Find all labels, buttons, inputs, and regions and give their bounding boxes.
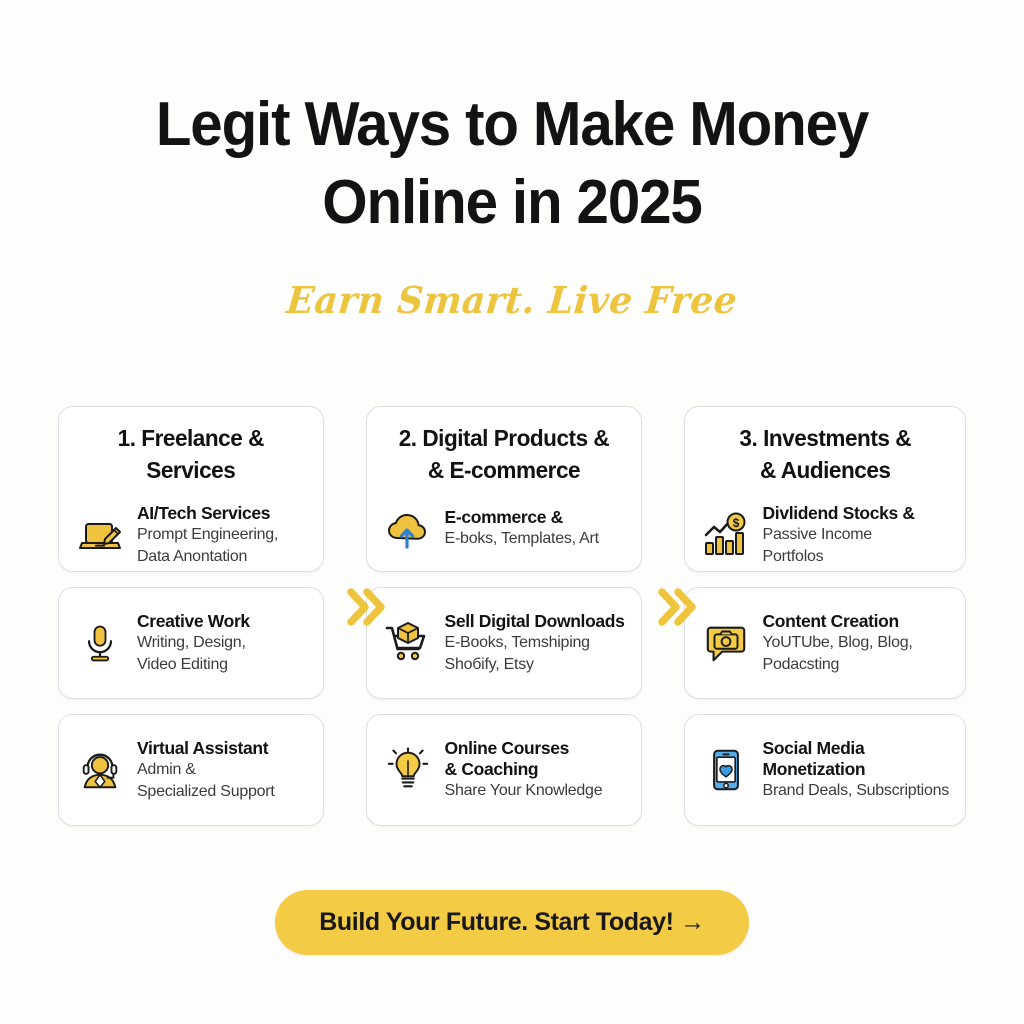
item-title: Sell Digital Downloads <box>445 611 625 632</box>
infographic-page: Legit Ways to Make Money Online in 2025 … <box>0 0 1024 1024</box>
card-online-courses[interactable]: Online Courses & Coaching Share Your Kno… <box>366 714 642 826</box>
column-digital-products: 2. Digital Products & & E-commerce <box>366 406 642 826</box>
item-sub-line-2: Video Editing <box>137 655 250 676</box>
card-texts: Sell Digital Downloads E-Books, Temshipi… <box>445 611 625 676</box>
card-sell-digital-downloads[interactable]: Sell Digital Downloads E-Books, Temshipi… <box>366 587 642 699</box>
column-heading: 3. Investments & & Audiences <box>705 423 944 487</box>
card-content-creation[interactable]: Content Creation YoUTUbe, Blog, Blog, Po… <box>684 587 966 699</box>
item-sub-line-2: Portfolos <box>763 547 915 568</box>
item-sub-line-1: Share Your Knowledge <box>445 781 603 802</box>
item-sub-line-2: Specialized Support <box>137 782 275 803</box>
growth-chart-coin-icon: $ <box>701 510 751 560</box>
item-title-line-2: Monetization <box>763 759 949 780</box>
card-row: Sell Digital Downloads E-Books, Temshipi… <box>383 611 625 676</box>
item-title: Creative Work <box>137 611 250 632</box>
column-heading-line-2: & Audiences <box>705 455 944 487</box>
column-heading-line-1: 3. Investments & <box>705 423 944 455</box>
column-heading: 1. Freelance & Services <box>80 423 302 487</box>
shopping-cart-box-icon <box>383 618 433 668</box>
item-title: AI/Tech Services <box>137 503 278 524</box>
item-sub-line-1: Brand Deals, Subscriptions <box>763 781 949 802</box>
item-title: Online Courses <box>445 738 603 759</box>
card-texts: Divlidend Stocks & Passive Income Portfo… <box>763 503 915 568</box>
page-title-line-1: Legit Ways to Make Money <box>117 86 907 164</box>
card-creative-work[interactable]: Creative Work Writing, Design, Video Edi… <box>58 587 324 699</box>
card-row: Virtual Assistant Admin & Specialized Su… <box>75 738 275 803</box>
page-subtitle: Earn Smart. Live Free <box>13 278 1010 322</box>
card-texts: Content Creation YoUTUbe, Blog, Blog, Po… <box>763 611 913 676</box>
card-texts: Online Courses & Coaching Share Your Kno… <box>445 738 603 802</box>
columns-container: 1. Freelance & Services <box>58 406 966 826</box>
cards-grid: 1. Freelance & Services <box>58 406 966 826</box>
card-row: AI/Tech Services Prompt Engineering, Dat… <box>75 503 307 568</box>
card-row: Social Media Monetization Brand Deals, S… <box>701 738 949 802</box>
card-investments-header[interactable]: 3. Investments & & Audiences <box>684 406 966 572</box>
item-sub-line-2: Shoбify, Etsy <box>445 655 625 676</box>
header: Legit Ways to Make Money Online in 2025 … <box>0 0 1024 322</box>
card-digital-products-header[interactable]: 2. Digital Products & & E-commerce <box>366 406 642 572</box>
svg-text:$: $ <box>732 516 739 530</box>
column-freelance: 1. Freelance & Services <box>58 406 324 826</box>
card-freelance-header[interactable]: 1. Freelance & Services <box>58 406 324 572</box>
item-sub-line-1: Prompt Engineering, <box>137 525 278 546</box>
item-sub-line-1: Passive Income <box>763 525 915 546</box>
cloud-upload-icon <box>383 503 433 553</box>
item-sub-line-1: E-Books, Temshiping <box>445 633 625 654</box>
column-heading-line-1: 2. Digital Products & <box>387 423 619 455</box>
microphone-icon <box>75 618 125 668</box>
column-heading-line-2: & E-commerce <box>387 455 619 487</box>
item-sub-line-1: YoUTUbe, Blog, Blog, <box>763 633 913 654</box>
page-title-line-2: Online in 2025 <box>117 164 907 242</box>
column-heading-line-1: 1. Freelance & <box>80 423 302 455</box>
card-row: Online Courses & Coaching Share Your Kno… <box>383 738 603 802</box>
item-sub-line-1: E-boks, Templates, Art <box>445 529 599 550</box>
card-virtual-assistant[interactable]: Virtual Assistant Admin & Specialized Su… <box>58 714 324 826</box>
card-row: E-commerce & E-boks, Templates, Art <box>383 503 625 553</box>
card-row: $ Divlidend Stocks & Passive Income Port… <box>701 503 949 568</box>
card-texts: Virtual Assistant Admin & Specialized Su… <box>137 738 275 803</box>
page-title: Legit Ways to Make Money Online in 2025 <box>117 86 907 242</box>
item-title: Content Creation <box>763 611 913 632</box>
item-sub-line-1: Admin & <box>137 760 275 781</box>
item-sub-line-2: Data Anontation <box>137 547 278 568</box>
item-sub-line-1: Writing, Design, <box>137 633 250 654</box>
card-social-media-monetization[interactable]: Social Media Monetization Brand Deals, S… <box>684 714 966 826</box>
card-texts: AI/Tech Services Prompt Engineering, Dat… <box>137 503 278 568</box>
speech-bubble-camera-icon <box>701 618 751 668</box>
column-heading: 2. Digital Products & & E-commerce <box>387 423 619 487</box>
item-title: Social Media <box>763 738 949 759</box>
lightbulb-icon <box>383 745 433 795</box>
headset-agent-icon <box>75 745 125 795</box>
card-texts: Social Media Monetization Brand Deals, S… <box>763 738 949 802</box>
laptop-pencil-icon <box>75 510 125 560</box>
item-title: E-commerce & <box>445 507 599 528</box>
column-investments: 3. Investments & & Audiences <box>684 406 966 826</box>
card-row: Creative Work Writing, Design, Video Edi… <box>75 611 250 676</box>
item-title: Divlidend Stocks & <box>763 503 915 524</box>
item-sub-line-2: Podacsting <box>763 655 913 676</box>
card-texts: Creative Work Writing, Design, Video Edi… <box>137 611 250 676</box>
card-texts: E-commerce & E-boks, Templates, Art <box>445 507 599 550</box>
item-title-line-2: & Coaching <box>445 759 603 780</box>
column-heading-line-2: Services <box>80 455 302 487</box>
build-your-future-button[interactable]: Build Your Future. Start Today! → <box>275 890 748 955</box>
cta-container: Build Your Future. Start Today! → <box>0 890 1024 955</box>
phone-heart-icon <box>701 745 751 795</box>
item-title: Virtual Assistant <box>137 738 275 759</box>
card-row: Content Creation YoUTUbe, Blog, Blog, Po… <box>701 611 913 676</box>
